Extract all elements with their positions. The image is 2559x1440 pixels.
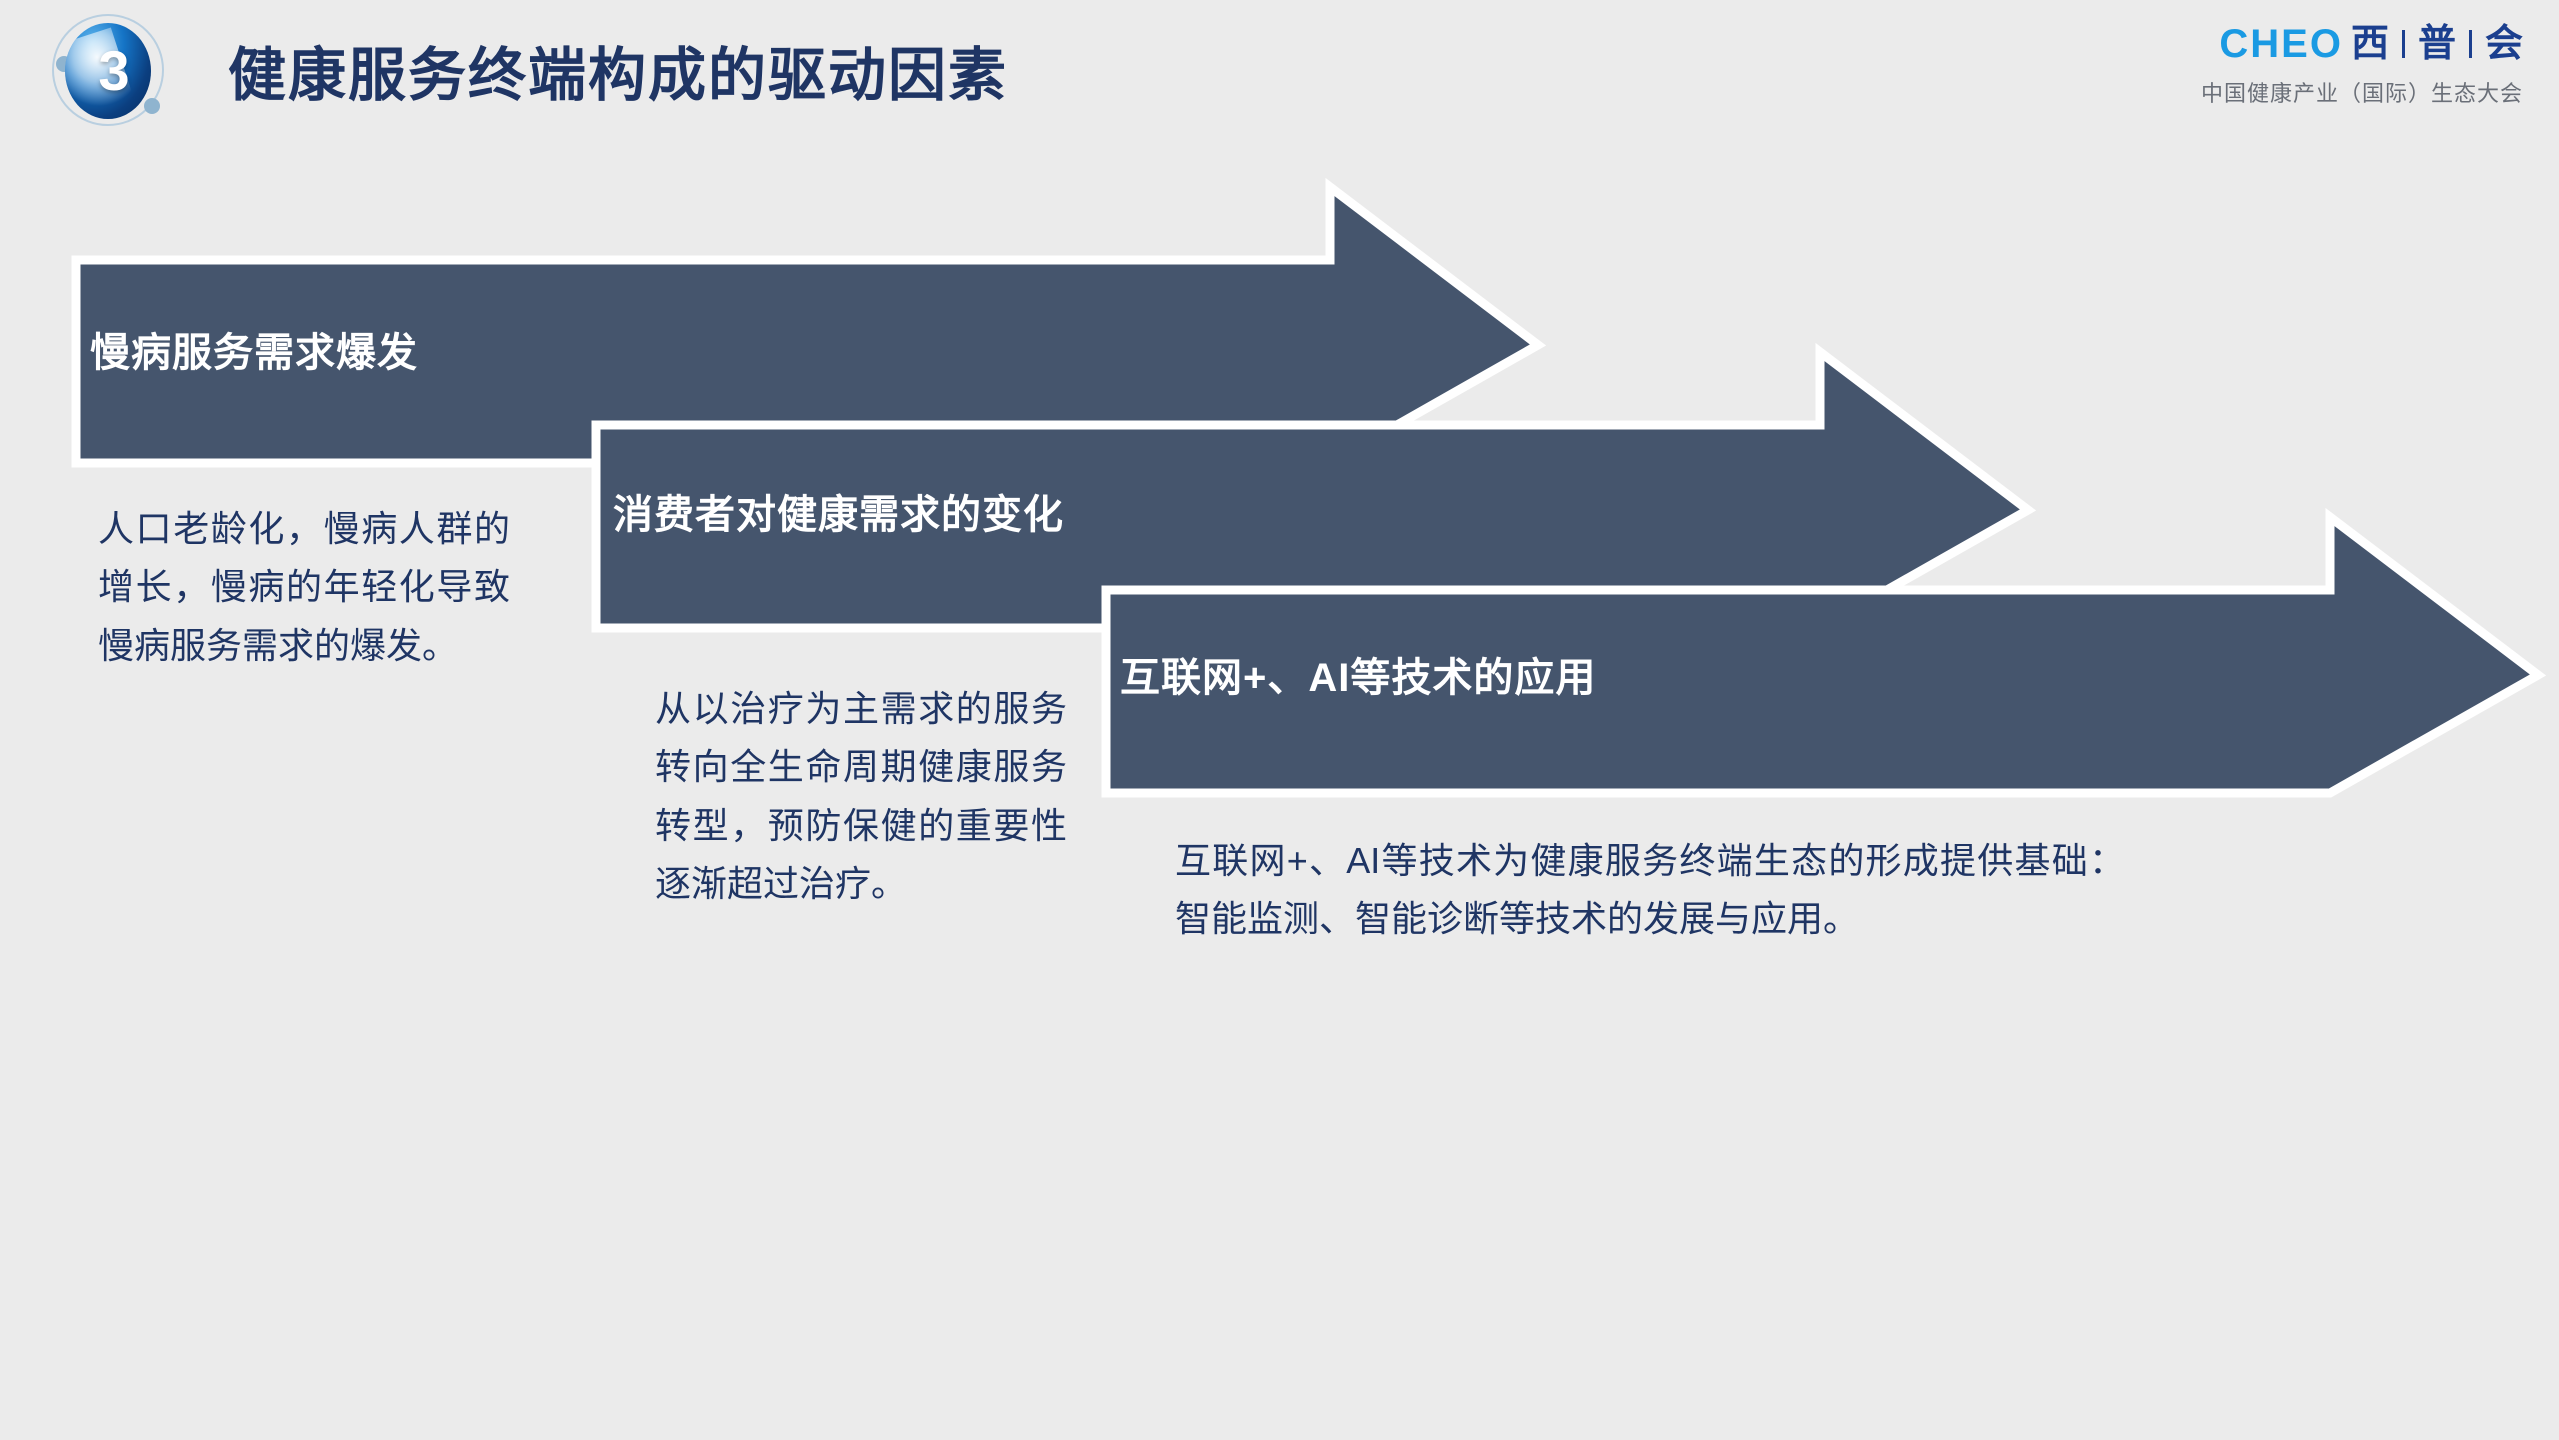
slide-header: 3 健康服务终端构成的驱动因素 CHEO 西 普 会 中国健康产业（国际）生态大…	[0, 0, 2559, 150]
brand-divider-1	[2402, 30, 2405, 58]
arrow-3-label: 互联网+、AI等技术的应用	[1120, 645, 1596, 703]
page-title: 健康服务终端构成的驱动因素	[228, 28, 1008, 112]
brand-cn-2: 普	[2418, 25, 2456, 63]
brand-cn-3: 会	[2485, 25, 2523, 63]
brand-subtitle: 中国健康产业（国际）生态大会	[2201, 76, 2523, 108]
brand-logo-row: CHEO 西 普 会	[2201, 24, 2523, 64]
brand-divider-2	[2469, 30, 2472, 58]
arrow-1-label: 慢病服务需求爆发	[90, 320, 418, 378]
arrow-2-label: 消费者对健康需求的变化	[613, 482, 1064, 540]
badge-number: 3	[65, 23, 151, 119]
slide-canvas: 3 健康服务终端构成的驱动因素 CHEO 西 普 会 中国健康产业（国际）生态大…	[0, 0, 2559, 1440]
brand-logo: CHEO 西 普 会 中国健康产业（国际）生态大会	[2201, 24, 2523, 108]
arrow-2-body-text: 从以治疗为主需求的服务转向全生命周期健康服务转型，预防保健的重要性逐渐超过治疗。	[655, 680, 1067, 913]
badge-orb: 3	[65, 23, 151, 119]
arrow-1-body-text: 人口老龄化，慢病人群的增长，慢病的年轻化导致慢病服务需求的爆发。	[98, 500, 510, 675]
brand-cn-1: 西	[2351, 25, 2389, 63]
arrow-3-body-text: 互联网+、AI等技术为健康服务终端生态的形成提供基础：智能监测、智能诊断等技术的…	[1175, 832, 2125, 949]
brand-latin-text: CHEO	[2219, 24, 2343, 64]
slide-number-badge: 3	[52, 14, 164, 126]
